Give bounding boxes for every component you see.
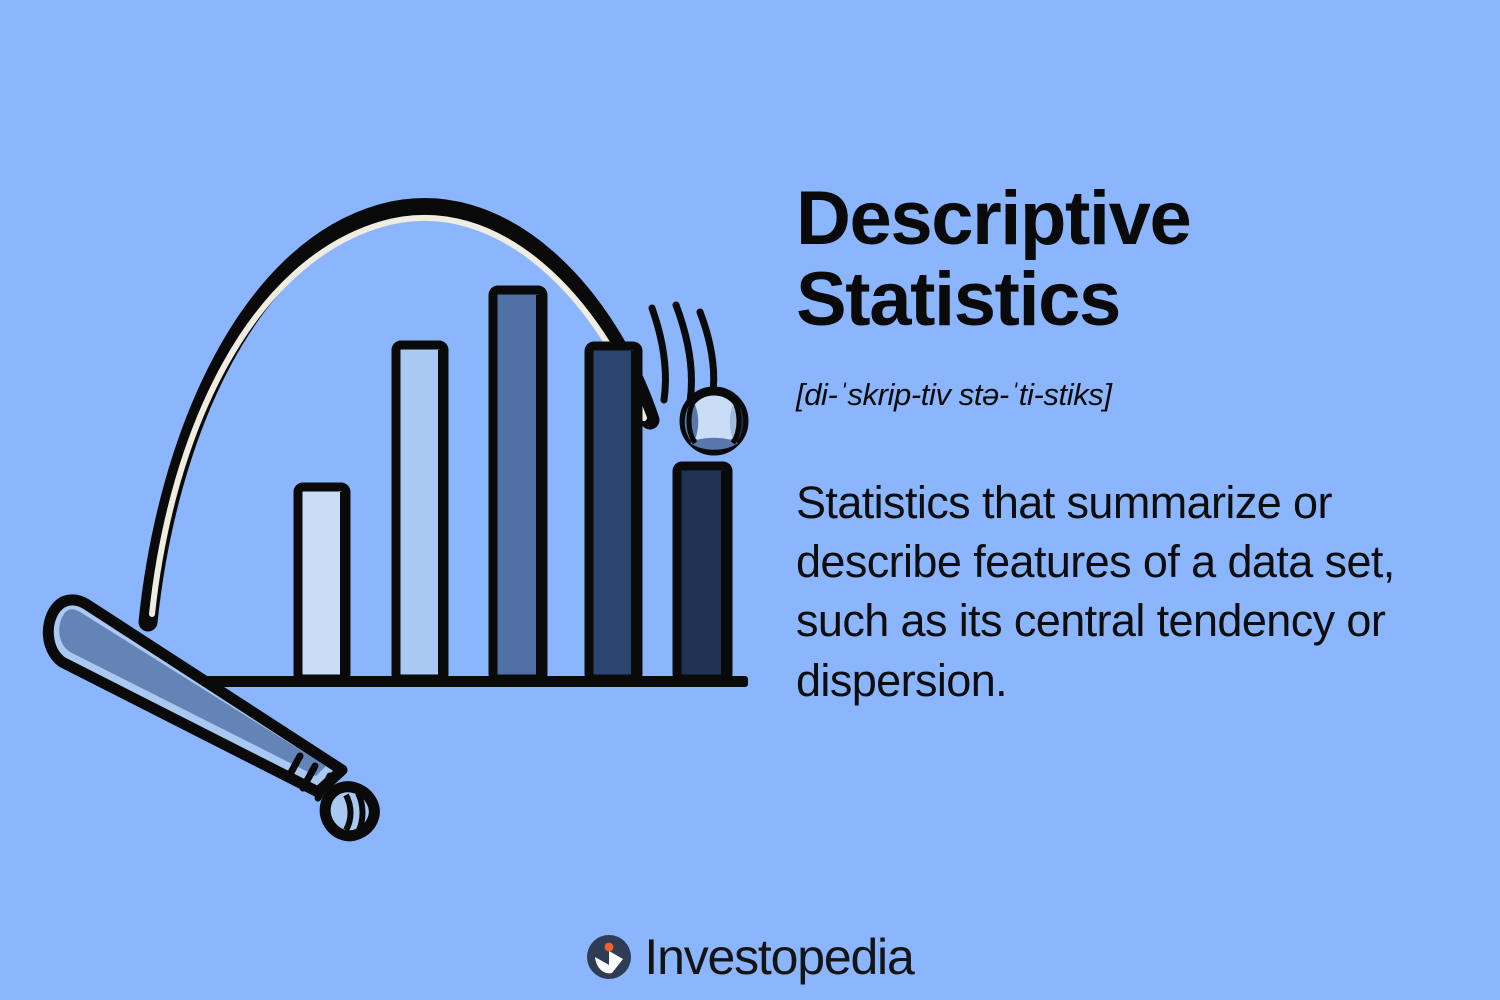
investopedia-wordmark: Investopedia bbox=[644, 932, 913, 982]
investopedia-logo[interactable]: Investopedia bbox=[0, 932, 1500, 982]
motion-lines-icon bbox=[652, 305, 714, 402]
illustration bbox=[0, 0, 780, 900]
baseball-icon bbox=[684, 391, 744, 451]
definition-text: Statistics that summarize or describe fe… bbox=[796, 473, 1456, 711]
definition-card: Descriptive Statistics [di-ˈskrip-tiv st… bbox=[0, 0, 1500, 1000]
page-title: Descriptive Statistics bbox=[796, 178, 1316, 341]
investopedia-mark-icon bbox=[586, 934, 632, 980]
pronunciation-text: [di-ˈskrip-tiv stə-ˈti-stiks] bbox=[796, 377, 1456, 413]
bar-3 bbox=[493, 290, 545, 679]
bar-1 bbox=[298, 487, 349, 679]
chart-baseline bbox=[196, 676, 748, 687]
bar-2 bbox=[396, 345, 447, 679]
bar-5 bbox=[677, 466, 730, 679]
definition-text-column: Descriptive Statistics [di-ˈskrip-tiv st… bbox=[796, 178, 1456, 710]
bar-4 bbox=[589, 346, 640, 679]
